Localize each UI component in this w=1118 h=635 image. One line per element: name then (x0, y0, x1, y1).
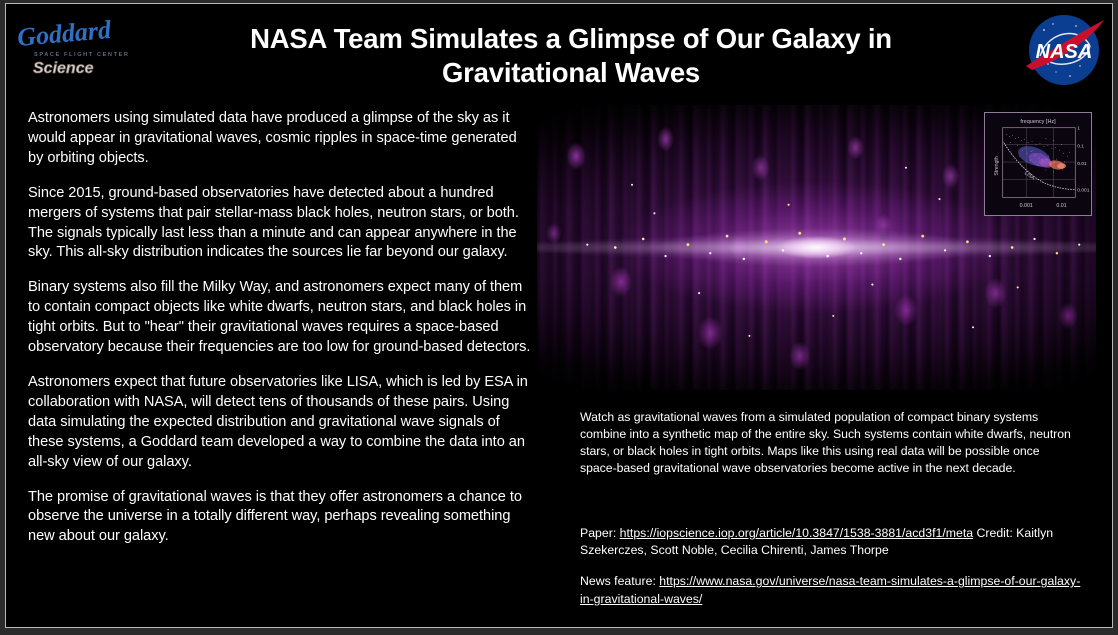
credit-label: Credit: (977, 526, 1013, 540)
slide-header: Goddard SPACE FLIGHT CENTER Science Scie… (6, 4, 1112, 96)
credits-block: Paper: https://iopscience.iop.org/articl… (580, 525, 1082, 622)
figure-caption: Watch as gravitational waves from a simu… (580, 409, 1072, 477)
article-paragraph: Astronomers using simulated data have pr… (28, 109, 533, 169)
news-feature-link[interactable]: https://www.nasa.gov/universe/nasa-team-… (580, 574, 1080, 605)
nasa-logo: NASA NASA (1020, 6, 1108, 94)
page-title: NASA Team Simulates a Glimpse of Our Gal… (166, 22, 976, 90)
news-credit-row: News feature: https://www.nasa.gov/unive… (580, 573, 1082, 607)
article-paragraph: Binary systems also fill the Milky Way, … (28, 278, 533, 358)
article-paragraph: Since 2015, ground-based observatories h… (28, 184, 533, 264)
news-label: News feature: (580, 574, 656, 588)
paper-credit-row: Paper: https://iopscience.iop.org/articl… (580, 525, 1082, 559)
slide-canvas: Goddard SPACE FLIGHT CENTER Science Scie… (5, 3, 1113, 628)
inset-strength-frequency-chart: frequency [Hz] LISA (984, 112, 1092, 216)
svg-text:0.001: 0.001 (1020, 203, 1033, 209)
article-paragraph: The promise of gravitational waves is th… (28, 488, 533, 548)
nasa-logo-wordmark-text: NASA (1036, 41, 1093, 63)
paper-link[interactable]: https://iopscience.iop.org/article/10.38… (620, 526, 973, 540)
inset-xlabel-text: frequency [Hz] (1020, 119, 1056, 125)
article-body: Astronomers using simulated data have pr… (28, 109, 533, 614)
inset-ylabel-text: Strength (994, 156, 1000, 175)
article-paragraph: Astronomers expect that future observato… (28, 373, 533, 473)
goddard-subtitle-text: SPACE FLIGHT CENTER (34, 52, 130, 58)
svg-text:0.01: 0.01 (1077, 161, 1087, 167)
goddard-wordmark-text: Goddard (16, 18, 113, 52)
figure-column: frequency [Hz] LISA (537, 105, 1096, 615)
galaxy-allsky-image: frequency [Hz] LISA (537, 105, 1096, 390)
svg-text:1: 1 (1077, 126, 1080, 132)
svg-text:0.001: 0.001 (1077, 187, 1090, 193)
svg-text:0.01: 0.01 (1056, 203, 1066, 209)
goddard-science-logo: Goddard SPACE FLIGHT CENTER Science Scie… (14, 18, 146, 78)
paper-label: Paper: (580, 526, 616, 540)
svg-text:0.1: 0.1 (1077, 143, 1084, 149)
goddard-tagline-outline: Science (33, 60, 94, 77)
